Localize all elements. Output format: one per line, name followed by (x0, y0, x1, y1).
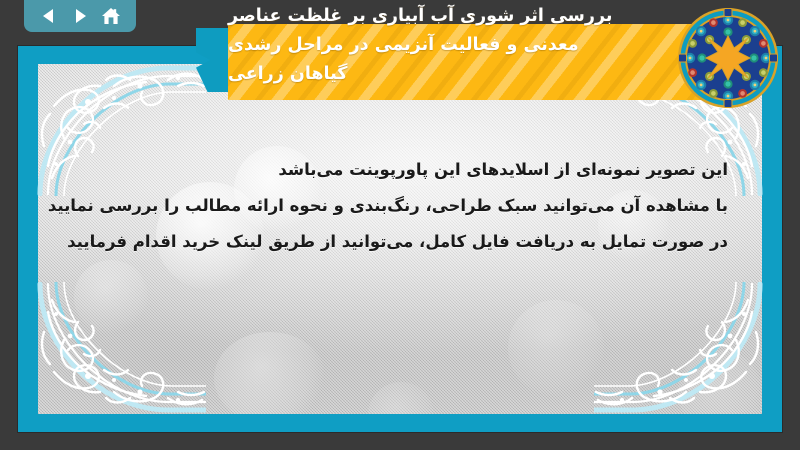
slide-canvas: این تصویر نمونه‌ای از اسلایدهای این پاور… (18, 46, 782, 432)
banner-top-mask (228, 0, 714, 24)
navigation-bar (24, 0, 136, 32)
house-icon (100, 6, 122, 26)
next-slide-button[interactable] (69, 5, 91, 27)
body-line-2: با مشاهده آن می‌توانید سبک طراحی، رنگ‌بن… (68, 188, 728, 224)
slide-viewer: این تصویر نمونه‌ای از اسلایدهای این پاور… (0, 0, 800, 450)
slide-body-text: این تصویر نمونه‌ای از اسلایدهای این پاور… (68, 152, 728, 260)
title-line-1: بررسی اثر شوری آب آبیاری بر غلظت عناصر (228, 2, 612, 31)
previous-slide-button[interactable] (38, 5, 60, 27)
slide-content-area: این تصویر نمونه‌ای از اسلایدهای این پاور… (38, 64, 762, 414)
home-button[interactable] (100, 5, 122, 27)
body-line-1: این تصویر نمونه‌ای از اسلایدهای این پاور… (68, 152, 728, 188)
triangle-left-icon (39, 6, 59, 26)
body-line-3: در صورت تمایل به دریافت فایل کامل، می‌تو… (68, 224, 728, 260)
triangle-right-icon (70, 6, 90, 26)
